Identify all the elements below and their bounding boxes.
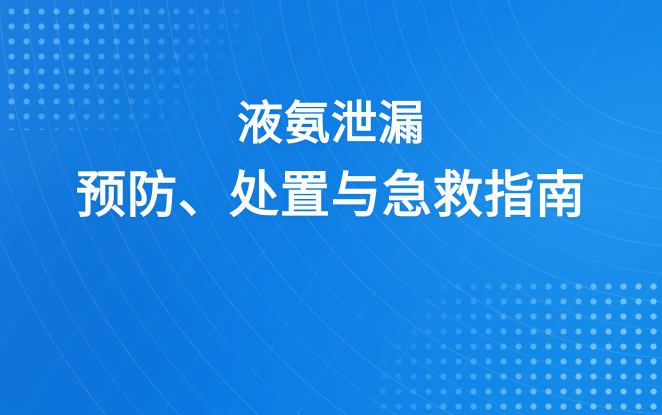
dot-grid-bottom-right — [372, 275, 662, 415]
page-title: 液氨泄漏 预防、处置与急救指南 — [0, 96, 662, 225]
title-line-secondary: 预防、处置与急救指南 — [0, 166, 662, 225]
title-banner: 液氨泄漏 预防、处置与急救指南 — [0, 0, 662, 415]
title-line-primary: 液氨泄漏 — [0, 96, 662, 150]
